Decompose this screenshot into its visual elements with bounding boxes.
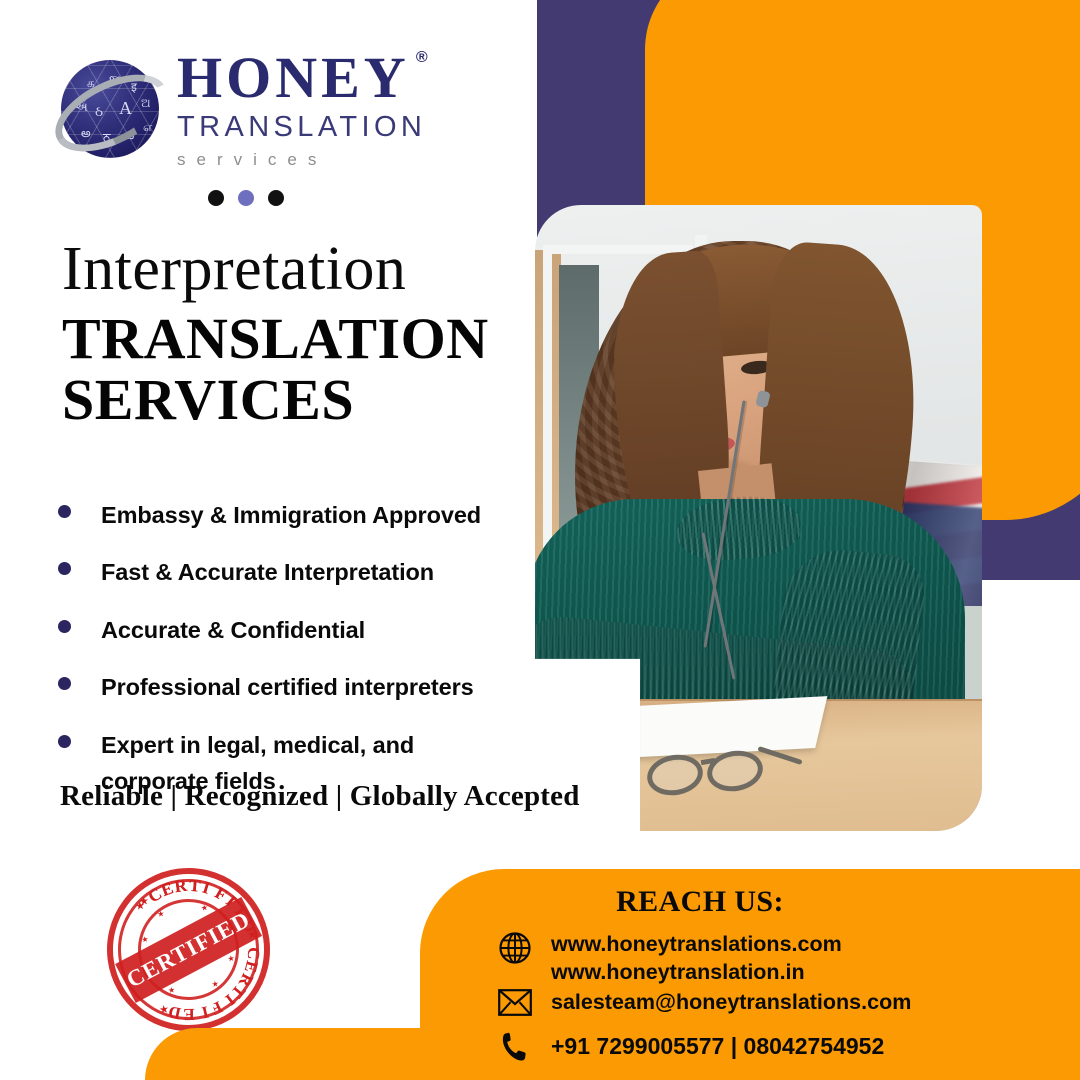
bullet-icon: [58, 562, 71, 575]
stamp-star-icon: ★: [158, 1002, 170, 1016]
contact-row-email[interactable]: salesteam@honeytranslations.com: [495, 989, 911, 1017]
website-secondary[interactable]: www.honeytranslation.in: [551, 959, 842, 987]
logo-secondary-text: TRANSLATION: [177, 111, 477, 144]
stamp-arc-char: F: [207, 996, 225, 1019]
list-item: Accurate & Confidential: [58, 612, 528, 648]
stamp-star-icon: ★: [141, 935, 149, 945]
headline-bold-1: TRANSLATION: [62, 307, 532, 372]
headline-block: Interpretation TRANSLATION SERVICES: [62, 238, 532, 433]
registered-trademark-icon: ®: [416, 50, 432, 67]
notepad: [623, 696, 828, 758]
flyer-canvas: க જ इ અ ઠ A ଅ అ ਨ ట எ HONEY ®: [0, 0, 1080, 1080]
contact-row-website[interactable]: www.honeytranslations.com www.honeytrans…: [495, 931, 842, 986]
logo-tertiary-text: services: [177, 150, 477, 170]
bullet-icon: [58, 505, 71, 518]
email-address[interactable]: salesteam@honeytranslations.com: [551, 989, 911, 1017]
stamp-star-icon: ★: [200, 903, 208, 913]
stamp-star-icon: ★: [167, 985, 175, 995]
stamp-arc-char: R: [173, 875, 188, 897]
interpreter-photo: [535, 205, 982, 831]
person-figure: [565, 231, 925, 731]
list-item-label: Fast & Accurate Interpretation: [101, 554, 434, 590]
dot-2: [238, 190, 254, 206]
phone-icon: [495, 1031, 535, 1063]
contact-block: REACH US: www.honeytranslations.com www.…: [420, 869, 1080, 1080]
envelope-icon: [495, 989, 535, 1016]
stamp-arc-char: T: [188, 875, 201, 896]
headline-script: Interpretation: [62, 238, 532, 301]
eyeglasses: [645, 751, 795, 795]
dot-3: [268, 190, 284, 206]
lens: [704, 746, 766, 795]
feature-list: Embassy & Immigration Approved Fast & Ac…: [58, 497, 528, 821]
list-item: Professional certified interpreters: [58, 669, 528, 705]
globe-icon: [495, 931, 535, 965]
headline-bold-2: SERVICES: [62, 368, 532, 433]
contact-row-phone[interactable]: +91 7299005577 | 08042754952: [495, 1031, 884, 1063]
logo-primary-text: HONEY ®: [177, 48, 410, 109]
stamp-arc-char: I: [200, 877, 212, 898]
stamp-arc-char: C: [242, 946, 262, 959]
contact-heading: REACH US:: [420, 885, 980, 919]
list-item: Embassy & Immigration Approved: [58, 497, 528, 533]
stamp-star-icon: ★: [157, 909, 165, 919]
bullet-icon: [58, 620, 71, 633]
tagline: Reliable | Recognized | Globally Accepte…: [60, 780, 580, 813]
lens: [644, 750, 706, 799]
globe-logo-icon: க જ इ અ ઠ A ଅ అ ਨ ట எ: [55, 54, 167, 166]
certified-stamp-icon: CERTIFIEDCERTIFIEDCERTIFIED★★★★★★★★★★★★ …: [96, 857, 280, 1041]
stamp-star-icon: ★: [138, 894, 150, 908]
dot-1: [208, 190, 224, 206]
bullet-icon: [58, 735, 71, 748]
website-primary[interactable]: www.honeytranslations.com: [551, 931, 842, 959]
brand-logo: க જ इ અ ઠ A ଅ అ ਨ ట எ HONEY ®: [55, 48, 475, 208]
bullet-icon: [58, 677, 71, 690]
phone-numbers[interactable]: +91 7299005577 | 08042754952: [551, 1032, 884, 1061]
stamp-star-icon: ★: [227, 953, 235, 963]
stamp-arc-char: E: [183, 1003, 195, 1023]
list-item-label: Accurate & Confidential: [101, 612, 365, 648]
list-item-label: Professional certified interpreters: [101, 669, 474, 705]
stamp-star-icon: ★: [211, 979, 219, 989]
list-item: Fast & Accurate Interpretation: [58, 554, 528, 590]
decorative-dots: [208, 190, 284, 206]
list-item-label: Embassy & Immigration Approved: [101, 497, 481, 533]
logo-honey-word: HONEY: [177, 45, 410, 110]
